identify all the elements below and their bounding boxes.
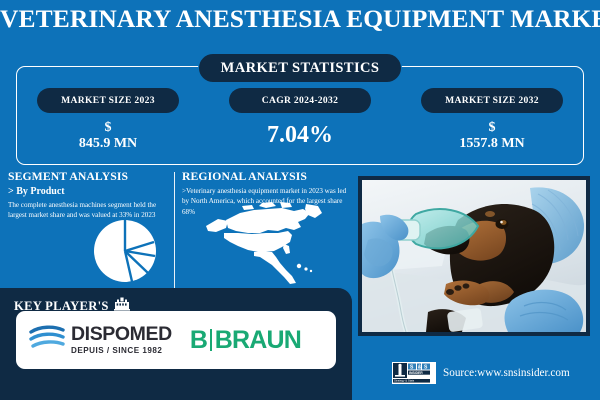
- panel-divider: [174, 172, 175, 290]
- dispomed-tagline: DEPUIS / SINCE 1982: [71, 347, 172, 355]
- pie-chart-icon: [92, 218, 158, 284]
- source-text: Source:www.snsinsider.com: [443, 367, 570, 379]
- segment-analysis-heading: SEGMENT ANALYSIS: [8, 170, 173, 183]
- stat-market-size-2032: MARKET SIZE 2032 $ 1557.8 MN: [412, 88, 572, 151]
- stat-label: MARKET SIZE 2032: [421, 88, 563, 113]
- photo-frame: [358, 176, 590, 336]
- stat-amount: 1557.8 MN: [412, 136, 572, 152]
- stat-currency: $: [412, 120, 572, 136]
- stat-value: $ 845.9 MN: [28, 120, 188, 151]
- segment-analysis-panel: SEGMENT ANALYSIS > By Product The comple…: [8, 170, 173, 290]
- veterinary-anesthesia-dog-photo: [362, 180, 586, 332]
- stat-label: MARKET SIZE 2023: [37, 88, 179, 113]
- bbraun-b: B: [190, 326, 207, 355]
- dispomed-name: DISPOMED: [71, 323, 172, 345]
- title-bar: VETERINARY ANESTHESIA EQUIPMENT MARKET: [0, 6, 600, 33]
- dispomed-logo: DISPOMED DEPUIS / SINCE 1982: [28, 323, 172, 358]
- north-america-map-icon: [202, 200, 330, 288]
- infographic-canvas: VETERINARY ANESTHESIA EQUIPMENT MARKET M…: [0, 0, 600, 400]
- svg-text:&: &: [418, 364, 422, 370]
- dispomed-swoosh-icon: [28, 323, 66, 358]
- sns-insider-logo: S & S INSIDER Strategy & Stats: [392, 362, 436, 384]
- svg-text:Strategy & Stats: Strategy & Stats: [394, 379, 415, 383]
- source-row: S & S INSIDER Strategy & Stats Source:ww…: [392, 362, 570, 384]
- bbraun-divider: [210, 329, 212, 351]
- segment-analysis-subheading: > By Product: [8, 186, 173, 197]
- stat-market-size-2023: MARKET SIZE 2023 $ 845.9 MN: [28, 88, 188, 151]
- page-title: VETERINARY ANESTHESIA EQUIPMENT MARKET: [0, 6, 600, 33]
- stat-value: $ 1557.8 MN: [412, 120, 572, 151]
- stat-amount: 845.9 MN: [28, 136, 188, 152]
- stat-currency: $: [28, 120, 188, 136]
- stat-label: CAGR 2024-2032: [229, 88, 371, 113]
- svg-text:INSIDER: INSIDER: [409, 371, 423, 375]
- regional-analysis-heading: REGIONAL ANALYSIS: [182, 170, 350, 183]
- bbraun-logo: B BRAUN: [190, 326, 301, 355]
- key-players-logo-card: DISPOMED DEPUIS / SINCE 1982 B BRAUN: [16, 311, 336, 369]
- stat-cagr: CAGR 2024-2032 7.04%: [220, 88, 380, 149]
- dispomed-text: DISPOMED DEPUIS / SINCE 1982: [71, 325, 172, 355]
- market-statistics-label: MARKET STATISTICS: [198, 53, 402, 83]
- stat-value: 7.04%: [220, 122, 380, 149]
- regional-analysis-panel: REGIONAL ANALYSIS >Veterinary anesthesia…: [182, 170, 350, 290]
- bbraun-braun: BRAUN: [215, 326, 301, 355]
